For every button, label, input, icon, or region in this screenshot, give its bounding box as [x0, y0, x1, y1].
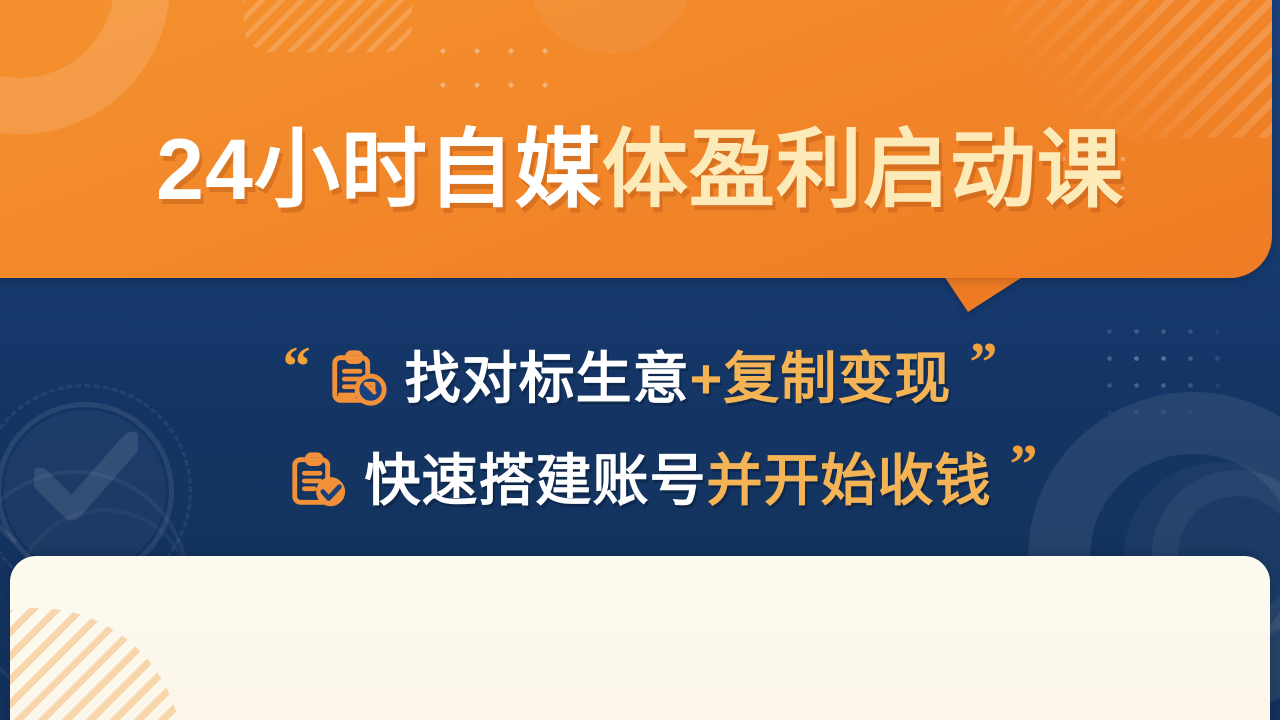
headline-list: “ 找对标生意+复制变现 ” “ 快速搭	[0, 328, 1280, 532]
promo-poster: 24小时自媒体盈利启动课 “ 找对标生意+复制变现 ” “	[0, 0, 1280, 720]
headline-row-1: “ 找对标生意+复制变现 ”	[0, 328, 1280, 430]
headline-2-gold: 并开始收钱	[707, 449, 992, 512]
headline-1-gold: +复制变现	[690, 347, 952, 410]
title-segment-cream: 体盈利启动课	[602, 122, 1124, 218]
headline-text-2: 快速搭建账号并开始收钱	[365, 453, 992, 509]
headline-1-white: 找对标生意	[405, 347, 690, 410]
bottom-card	[10, 556, 1270, 720]
open-quote-mark: “	[283, 339, 311, 395]
banner-stripes-right	[1002, 0, 1272, 138]
headline-2-white: 快速搭建账号	[365, 449, 707, 512]
banner-oval-decoration	[526, 0, 694, 54]
title-segment-white: 24小时自媒	[156, 122, 602, 218]
headline-row-2: “ 快速搭建账号并开始收钱 ”	[0, 430, 1280, 532]
close-quote-mark: ”	[969, 335, 997, 391]
card-stripes-decoration	[10, 608, 182, 720]
banner-dots-decoration	[426, 34, 554, 96]
banner-ring-decoration	[0, 0, 170, 134]
banner-tail	[944, 276, 1024, 312]
clipboard-check-icon	[287, 450, 349, 512]
clipboard-search-icon	[327, 348, 389, 410]
banner-stripes-left	[244, 0, 412, 52]
page-title: 24小时自媒体盈利启动课	[0, 127, 1280, 213]
headline-text-1: 找对标生意+复制变现	[405, 351, 952, 407]
close-quote-mark-2: ”	[1010, 437, 1038, 493]
